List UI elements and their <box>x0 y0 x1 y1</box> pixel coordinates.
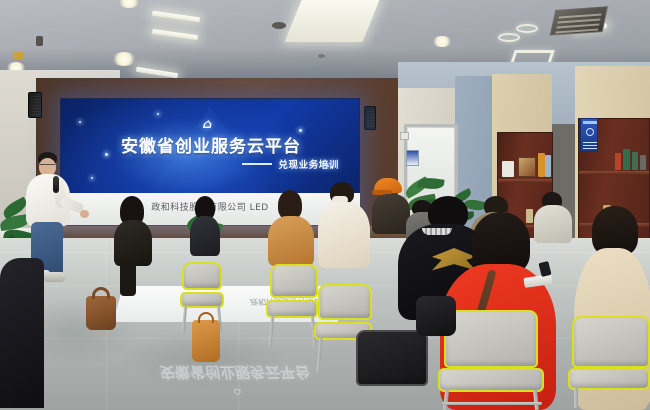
screen-sparkle <box>157 113 159 115</box>
chair-backrest <box>356 330 428 386</box>
shelf-bottle <box>623 149 630 170</box>
microphone-icon <box>53 176 59 193</box>
screen-slide-title: 安徽省创业服务云平台 <box>61 132 360 157</box>
ceiling-ring-light <box>498 33 520 42</box>
stacking-chair <box>572 316 650 368</box>
subtitle-rule <box>242 163 272 165</box>
chair-seat <box>568 368 650 390</box>
tote-handle <box>198 312 214 323</box>
ceiling-air-vent <box>550 6 609 36</box>
stacking-chair <box>180 292 224 308</box>
stacking-chair <box>444 310 538 368</box>
shelf-framed-photo <box>518 157 536 177</box>
screen-sparkle <box>91 177 93 179</box>
chair-backrest <box>270 264 318 298</box>
ceiling-downlight <box>432 36 452 47</box>
attendee-seated-front-row <box>112 196 156 292</box>
floor-reflected-logo-icon: ⌂ <box>224 386 250 399</box>
ceiling-sprinkler <box>318 54 325 58</box>
shelf-bottle <box>632 152 638 170</box>
floor-reflected-title-text: 安徽省创业服务云平台 <box>128 362 342 383</box>
stacking-chair <box>270 264 318 298</box>
zhenghe-wave-logo-icon: ⌂ <box>193 118 222 131</box>
screen-subtitle-row: 兑现业务培训 <box>61 157 360 171</box>
stacking-chair <box>356 330 428 386</box>
attendee-legs <box>120 260 136 296</box>
presenter-hand <box>80 210 89 218</box>
attendee-dark-top-mid <box>188 196 222 266</box>
attendee-torso <box>0 258 44 408</box>
standee-logo-icon <box>586 128 594 136</box>
stacking-chair <box>318 284 372 320</box>
standee-text-block <box>583 140 597 149</box>
attendee-hoodie <box>318 202 370 268</box>
stacking-chair <box>438 368 544 392</box>
stacking-chair <box>568 368 650 390</box>
shelf-book <box>545 155 551 177</box>
handbag-handle <box>92 287 110 299</box>
brown-handbag-on-floor <box>86 296 116 330</box>
ceiling-sprinkler <box>272 22 286 29</box>
standee-header-bar <box>583 121 597 124</box>
ceiling-ring-light <box>516 24 538 33</box>
seminar-room-photo: ⌂ 安徽省创业服务云平台 兑现业务培训 政和科技股份有限公司 LED <box>0 0 650 410</box>
shelf-white-box <box>502 161 514 177</box>
wall-speaker-right <box>364 106 376 130</box>
presenter-glasses-icon <box>40 164 55 167</box>
chair-seat <box>438 368 544 392</box>
screen-sparkle <box>79 121 81 123</box>
wall-switch-panel <box>400 132 409 140</box>
attendee-black-coat-front-left <box>0 258 46 410</box>
attendee-torso <box>268 216 314 266</box>
blue-information-standee <box>580 118 598 152</box>
presenter-shoe <box>44 272 66 282</box>
wall-speaker-left <box>28 92 42 118</box>
chair-leg <box>574 388 578 408</box>
emergency-light <box>13 52 24 59</box>
shelf-book <box>538 153 545 177</box>
chair-backrest <box>572 316 650 368</box>
ceiling-sensor <box>36 36 43 46</box>
wall-notice-sign <box>406 150 419 166</box>
attendee-torso <box>190 216 220 256</box>
attendee-cream-hoodie <box>316 182 372 286</box>
orange-tote-bag <box>192 320 220 362</box>
stacking-chair <box>182 262 222 290</box>
attendee-torso <box>114 220 152 266</box>
chair-rail <box>442 402 542 405</box>
stacking-chair <box>266 300 318 318</box>
shelf-bottle <box>640 155 646 170</box>
black-backpack-on-floor <box>416 296 456 336</box>
shelf-bottle <box>615 153 621 170</box>
chair-backrest <box>182 262 222 290</box>
chair-backrest <box>444 310 538 368</box>
ceiling-downlight <box>112 52 136 66</box>
chair-backrest <box>318 284 372 320</box>
screen-slide-subtitle: 兑现业务培训 <box>278 157 339 171</box>
